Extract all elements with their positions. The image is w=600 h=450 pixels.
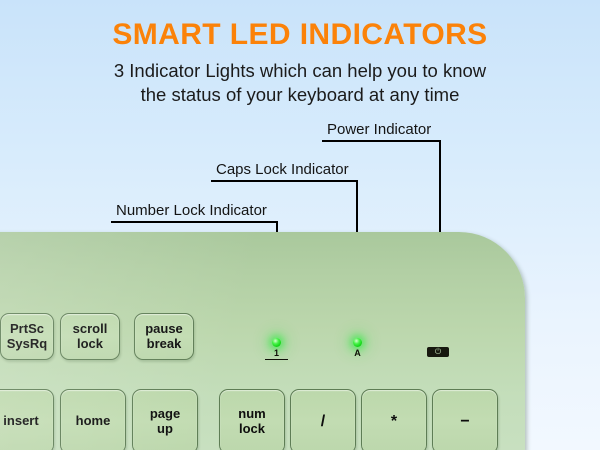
key-divide-label: / [321,413,325,430]
key-insert[interactable]: insert [0,389,54,450]
keyboard-body: PrtSc SysRq scroll lock pause break inse… [0,232,525,450]
key-prtsc-sysrq-line1: PrtSc [7,322,47,336]
power-led-icon: ⏻ [427,347,449,357]
key-prtsc-sysrq-line2: SysRq [7,337,47,351]
caps-lock-led-symbol: A [346,349,369,358]
key-pause-break-line1: pause [145,322,183,336]
key-prtsc-sysrq[interactable]: PrtSc SysRq [0,313,54,360]
key-num-lock-line1: num [238,407,265,421]
key-home-line1: home [76,414,111,428]
key-multiply-label: * [391,413,397,430]
key-pause-break[interactable]: pause break [134,313,194,360]
key-scroll-lock[interactable]: scroll lock [60,313,120,360]
key-insert-line1: insert [3,414,38,428]
callout-number-leader-horizontal [111,221,278,223]
key-home[interactable]: home [60,389,126,450]
page-subtitle: 3 Indicator Lights which can help you to… [0,59,600,108]
callout-number-lock-indicator-label: Number Lock Indicator [111,202,272,219]
key-multiply[interactable]: * [361,389,427,450]
key-pause-break-line2: break [145,337,183,351]
key-page-up[interactable]: page up [132,389,198,450]
callout-power-leader-horizontal [322,140,441,142]
key-scroll-lock-line2: lock [73,337,108,351]
page-title: SMART LED INDICATORS [0,18,600,52]
callout-caps-lock-indicator-label: Caps Lock Indicator [211,161,354,178]
key-num-lock-line2: lock [238,422,265,436]
key-page-up-line1: page [150,407,180,421]
slide-canvas: SMART LED INDICATORS 3 Indicator Lights … [0,0,600,450]
caps-lock-led-icon [353,338,362,347]
num-lock-led-icon [272,338,281,347]
key-minus-label: − [460,413,469,430]
key-minus[interactable]: − [432,389,498,450]
callout-power-indicator: Power Indicator [322,118,442,142]
key-scroll-lock-line1: scroll [73,322,108,336]
key-page-up-line2: up [150,422,180,436]
subtitle-line-1: 3 Indicator Lights which can help you to… [0,59,600,83]
callout-power-indicator-label: Power Indicator [322,121,436,138]
key-num-lock[interactable]: num lock [219,389,285,450]
key-divide[interactable]: / [290,389,356,450]
callout-caps-lock-indicator: Caps Lock Indicator [211,158,359,182]
subtitle-line-2: the status of your keyboard at any time [0,83,600,107]
callout-number-lock-indicator: Number Lock Indicator [111,199,279,223]
power-led-symbol: ⏻ [435,348,441,356]
callout-caps-leader-horizontal [211,180,358,182]
num-lock-led-symbol: 1 [265,349,288,360]
